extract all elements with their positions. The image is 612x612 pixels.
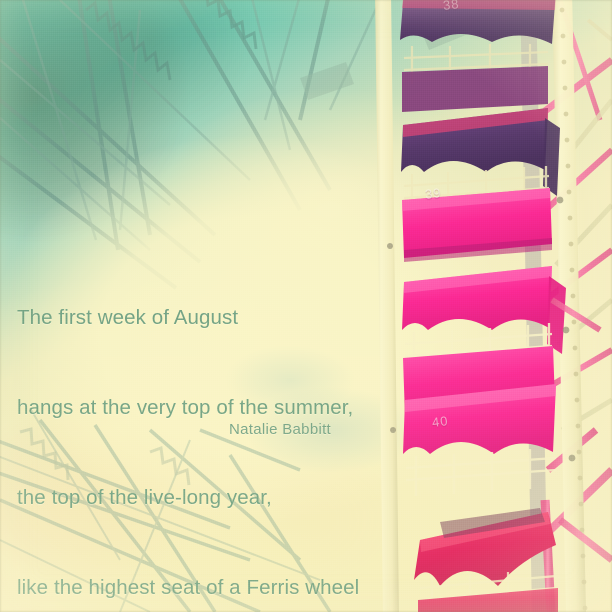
gondola-number-39: 39 (424, 185, 442, 202)
quote-line-4: like the highest seat of a Ferris wheel (17, 573, 397, 603)
quote-line-3: the top of the live-long year, (17, 483, 397, 513)
gondola-number-38: 38 (442, 0, 460, 13)
quote-line-1: The first week of August (17, 303, 397, 333)
quote-attribution: Natalie Babbitt (0, 421, 560, 438)
quote-photo-canvas: 38 39 40 The first week of August hangs … (0, 0, 612, 612)
quote-line-2: hangs at the very top of the summer, (17, 393, 397, 423)
